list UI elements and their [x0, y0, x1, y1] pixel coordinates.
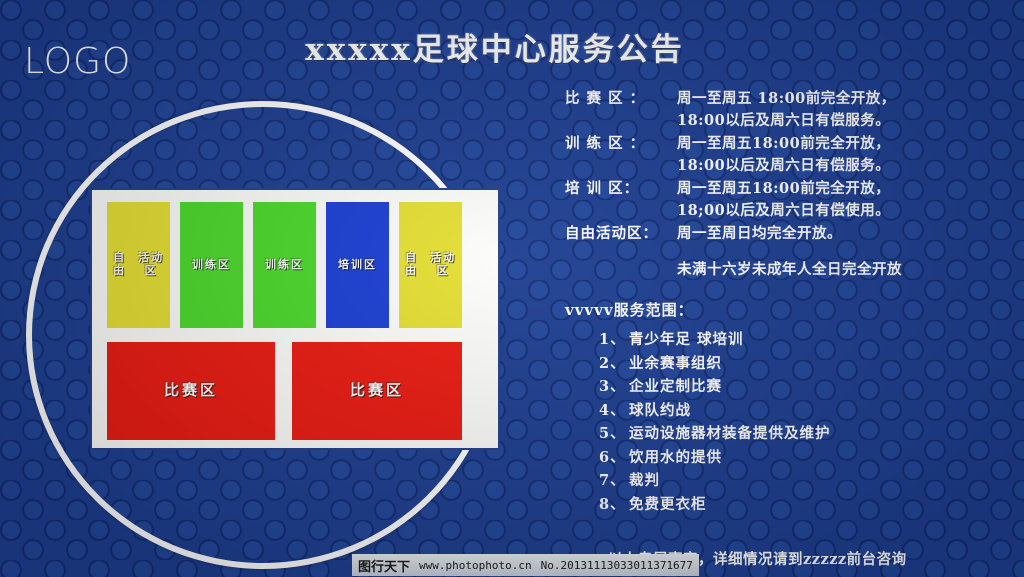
service-item-label: 裁判: [629, 469, 660, 492]
service-item-number: 6、: [599, 446, 629, 469]
minors-note: 未满十六岁未成年人全日完全开放: [677, 258, 1015, 279]
schedule-hours: 周一至周五18:00前完全开放，18:00以后及周六日有偿服务。: [677, 133, 1015, 178]
logo: LOGO: [24, 44, 131, 80]
schedule-zone-label: 培 训 区：: [565, 178, 677, 223]
schedule-hours: 周一至周五18:00前完全开放，18;00以后及周六日有偿使用。: [677, 178, 1015, 223]
pitch-zone-label: 活动区: [424, 252, 462, 278]
pitch-zone-label: 训练区: [265, 259, 304, 272]
service-list-item: 6、饮用水的提供: [599, 446, 1015, 469]
service-list-item: 7、裁判: [599, 469, 1015, 492]
service-item-label: 饮用水的提供: [629, 446, 722, 469]
service-item-label: 免费更衣柜: [629, 493, 707, 516]
schedule-row: 培 训 区：周一至周五18:00前完全开放，18;00以后及周六日有偿使用。: [565, 178, 1015, 223]
stock-watermark: 图行天下 www.photophoto.cn No.20131113033011…: [352, 554, 699, 576]
service-item-label: 企业定制比赛: [629, 375, 722, 398]
pitch-zone-label: 活动区: [132, 252, 170, 278]
schedule-hours-line: 18;00以后及周六日有偿使用。: [677, 200, 1015, 222]
info-panel: 比 赛 区 ：周一至周五 18:00前完全开放，18:00以后及周六日有偿服务。…: [565, 88, 1015, 516]
service-list-item: 5、运动设施器材装备提供及维护: [599, 422, 1015, 445]
watermark-url: www.photophoto.cn: [419, 559, 532, 572]
schedule-hours-line: 18:00以后及周六日有偿服务。: [677, 155, 1015, 177]
pitch-zone-label: 自由: [399, 252, 424, 278]
schedule-block: 比 赛 区 ：周一至周五 18:00前完全开放，18:00以后及周六日有偿服务。…: [565, 88, 1015, 245]
service-item-number: 3、: [599, 375, 629, 398]
service-item-label: 业余赛事组织: [629, 352, 722, 375]
pitch-zone-top-1: 自由活动区: [107, 202, 170, 328]
pitch-zone-bottom-2: 比赛区: [292, 342, 462, 440]
pitch-zone-top-2: 训练区: [180, 202, 243, 328]
service-list-item: 8、免费更衣柜: [599, 493, 1015, 516]
poster-canvas: LOGO xxxxx足球中心服务公告 自由活动区 训练区 训练区 培训区 自由活…: [0, 0, 1024, 577]
pitch-diagram: 自由活动区 训练区 训练区 培训区 自由活动区 比赛区 比赛区: [90, 188, 500, 450]
services-list: 1、青少年足 球培训2、业余赛事组织3、企业定制比赛4、球队约战5、运动设施器材…: [599, 328, 1015, 516]
service-item-number: 7、: [599, 469, 629, 492]
pitch-zones-container: 自由活动区 训练区 训练区 培训区 自由活动区 比赛区 比赛区: [92, 190, 498, 448]
schedule-hours: 周一至周日均完全开放。: [677, 223, 1015, 245]
footnote: 以上专属事宜，详细情况请到zzzzz前台咨询: [608, 548, 907, 569]
service-item-number: 4、: [599, 399, 629, 422]
service-item-label: 青少年足 球培训: [629, 328, 744, 351]
schedule-hours-line: 周一至周五18:00前完全开放，: [677, 133, 1015, 155]
service-item-label: 球队约战: [629, 399, 691, 422]
service-item-number: 8、: [599, 493, 629, 516]
service-item-number: 1、: [599, 328, 629, 351]
pitch-zone-label: 比赛区: [164, 382, 218, 400]
service-item-number: 5、: [599, 422, 629, 445]
service-item-label: 运动设施器材装备提供及维护: [629, 422, 831, 445]
pitch-zone-top-5: 自由活动区: [399, 202, 462, 328]
schedule-zone-label: 自由活动区：: [565, 223, 677, 245]
schedule-hours-line: 周一至周五 18:00前完全开放，: [677, 88, 1015, 110]
decorative-ellipse-ring: [26, 101, 500, 569]
schedule-zone-label: 比 赛 区 ：: [565, 88, 677, 133]
schedule-hours-line: 周一至周五18:00前完全开放，: [677, 178, 1015, 200]
services-title: vvvvv服务范围：: [565, 299, 1015, 320]
schedule-row: 训 练 区 ：周一至周五18:00前完全开放，18:00以后及周六日有偿服务。: [565, 133, 1015, 178]
schedule-row: 自由活动区：周一至周日均完全开放。: [565, 223, 1015, 245]
service-list-item: 3、企业定制比赛: [599, 375, 1015, 398]
page-title: xxxxx足球中心服务公告: [225, 24, 765, 69]
service-list-item: 4、球队约战: [599, 399, 1015, 422]
schedule-hours-line: 18:00以后及周六日有偿服务。: [677, 110, 1015, 132]
schedule-hours: 周一至周五 18:00前完全开放，18:00以后及周六日有偿服务。: [677, 88, 1015, 133]
pitch-zone-label: 比赛区: [350, 382, 404, 400]
watermark-brand: 图行天下: [358, 556, 410, 575]
service-list-item: 1、青少年足 球培训: [599, 328, 1015, 351]
pitch-zone-label: 训练区: [192, 259, 231, 272]
schedule-row: 比 赛 区 ：周一至周五 18:00前完全开放，18:00以后及周六日有偿服务。: [565, 88, 1015, 133]
schedule-hours-line: 周一至周日均完全开放。: [677, 223, 1015, 245]
service-item-number: 2、: [599, 352, 629, 375]
pitch-zone-top-4: 培训区: [326, 202, 389, 328]
pitch-zone-top-3: 训练区: [253, 202, 316, 328]
poster-content-layer: LOGO xxxxx足球中心服务公告 自由活动区 训练区 训练区 培训区 自由活…: [0, 0, 1024, 577]
pitch-zone-label: 培训区: [338, 259, 377, 272]
pitch-zone-label: 自由: [107, 252, 132, 278]
service-list-item: 2、业余赛事组织: [599, 352, 1015, 375]
watermark-id: No.20131113033011371677: [541, 559, 693, 572]
schedule-zone-label: 训 练 区 ：: [565, 133, 677, 178]
pitch-zone-bottom-1: 比赛区: [107, 342, 275, 440]
